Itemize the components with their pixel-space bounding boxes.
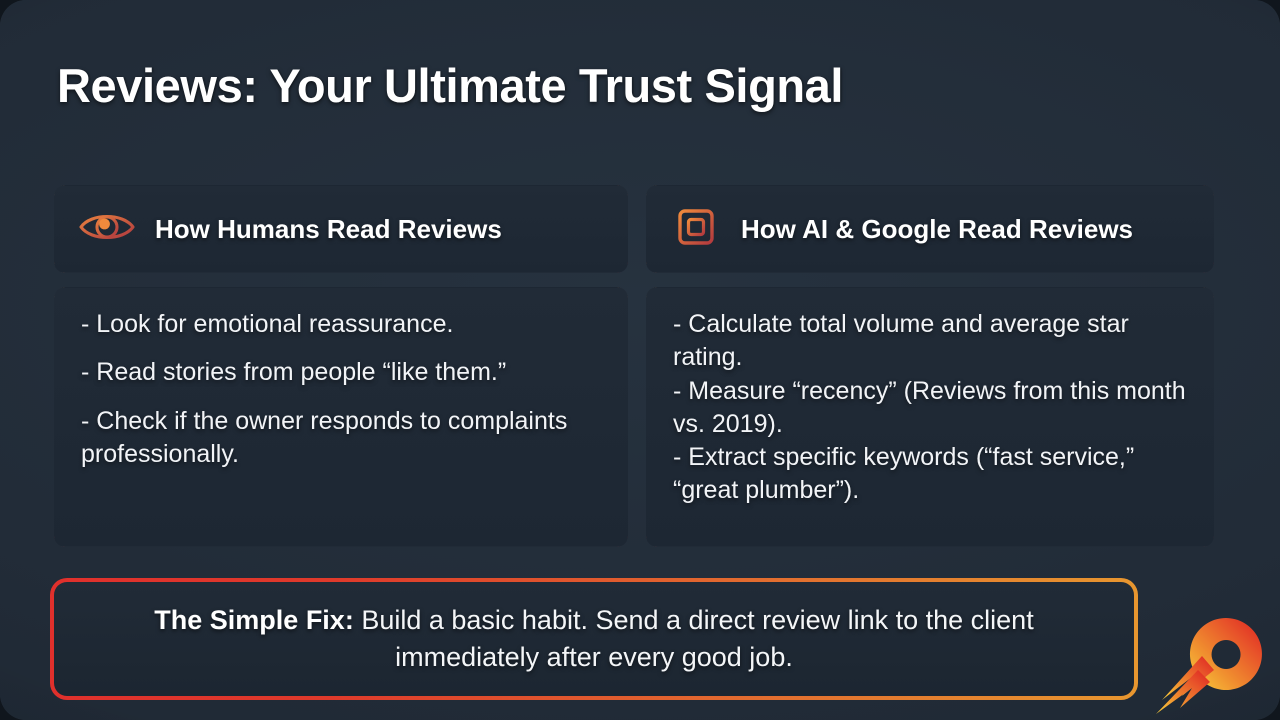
humans-header-card: How Humans Read Reviews — [54, 185, 628, 273]
ai-heading: How AI & Google Read Reviews — [741, 214, 1133, 245]
simple-fix-text: The Simple Fix: Build a basic habit. Sen… — [54, 602, 1134, 677]
list-item: - Read stories from people “like them.” — [81, 356, 603, 389]
list-item: - Look for emotional reassurance. — [81, 308, 603, 341]
simple-fix-lead: The Simple Fix: — [154, 605, 354, 635]
comet-logo — [1152, 596, 1276, 720]
column-humans: How Humans Read Reviews - Look for emoti… — [54, 185, 628, 547]
eye-icon — [77, 206, 137, 253]
ai-header-card: How AI & Google Read Reviews — [646, 185, 1214, 273]
slide-canvas: Reviews: Your Ultimate Trust Signal — [0, 0, 1280, 720]
page-title: Reviews: Your Ultimate Trust Signal — [57, 58, 843, 113]
list-item: - Extract specific keywords (“fast servi… — [673, 441, 1189, 508]
simple-fix-banner: The Simple Fix: Build a basic habit. Sen… — [54, 582, 1134, 696]
slide-content: Reviews: Your Ultimate Trust Signal — [0, 0, 1280, 720]
cpu-chip-icon — [669, 200, 723, 259]
humans-body-card: - Look for emotional reassurance. - Read… — [54, 287, 628, 547]
humans-heading: How Humans Read Reviews — [155, 214, 502, 245]
ai-body-card: - Calculate total volume and average sta… — [646, 287, 1214, 547]
simple-fix-body: Build a basic habit. Send a direct revie… — [354, 605, 1034, 672]
list-item: - Calculate total volume and average sta… — [673, 308, 1189, 375]
column-ai-google: How AI & Google Read Reviews - Calculate… — [646, 185, 1214, 547]
list-item: - Measure “recency” (Reviews from this m… — [673, 375, 1189, 442]
list-item: - Check if the owner responds to complai… — [81, 405, 603, 472]
